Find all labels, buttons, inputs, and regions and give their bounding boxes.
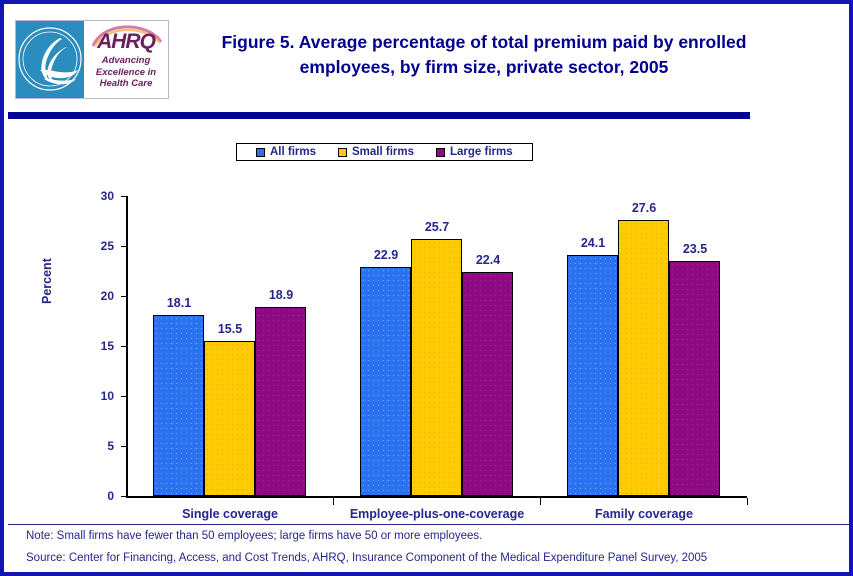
bar-all-firms-employee-plus-one-coverage: [360, 267, 411, 496]
bar-value-label: 18.1: [149, 296, 209, 310]
bar-value-label: 24.1: [563, 236, 623, 250]
bar-small-firms-employee-plus-one-coverage: [411, 239, 462, 496]
bar-value-label: 15.5: [200, 322, 260, 336]
y-axis-tick-mark: [121, 346, 127, 347]
x-axis-line: [126, 496, 747, 498]
y-axis-tick-mark: [121, 246, 127, 247]
bar-large-firms-single-coverage: [255, 307, 306, 496]
bar-all-firms-family-coverage: [567, 255, 618, 496]
bar-value-label: 22.4: [458, 253, 518, 267]
y-axis-title: Percent: [40, 258, 54, 304]
y-axis-tick-mark: [121, 396, 127, 397]
chart-plot-area: Percent 05101520253018.115.518.9Single c…: [4, 4, 849, 572]
y-axis-tick-label: 10: [86, 389, 114, 403]
bar-value-label: 22.9: [356, 248, 416, 262]
bar-large-firms-family-coverage: [669, 261, 720, 496]
source-text: Source: Center for Financing, Access, an…: [26, 552, 707, 564]
y-axis-tick-mark: [121, 496, 127, 497]
bar-value-label: 18.9: [251, 288, 311, 302]
bar-large-firms-employee-plus-one-coverage: [462, 272, 513, 496]
x-axis-tick-mark: [333, 498, 334, 505]
bar-value-label: 25.7: [407, 220, 467, 234]
y-axis-tick-mark: [121, 296, 127, 297]
note-text: Note: Small firms have fewer than 50 emp…: [26, 530, 482, 542]
x-axis-tick-mark: [540, 498, 541, 505]
y-axis-tick-label: 5: [86, 439, 114, 453]
y-axis-tick-label: 25: [86, 239, 114, 253]
bar-all-firms-single-coverage: [153, 315, 204, 496]
y-axis-tick-label: 15: [86, 339, 114, 353]
bar-value-label: 23.5: [665, 242, 725, 256]
x-axis-category-label: Family coverage: [514, 507, 774, 521]
y-axis-tick-label: 30: [86, 189, 114, 203]
bar-value-label: 27.6: [614, 201, 674, 215]
y-axis-tick-label: 0: [86, 489, 114, 503]
y-axis-tick-label: 20: [86, 289, 114, 303]
y-axis-tick-mark: [121, 446, 127, 447]
bar-small-firms-single-coverage: [204, 341, 255, 496]
y-axis-tick-mark: [121, 196, 127, 197]
bar-small-firms-family-coverage: [618, 220, 669, 496]
footer-divider: [8, 524, 853, 525]
figure-page: AHRQ Advancing Excellence in Health Care…: [0, 0, 853, 576]
x-axis-tick-mark: [747, 498, 748, 505]
